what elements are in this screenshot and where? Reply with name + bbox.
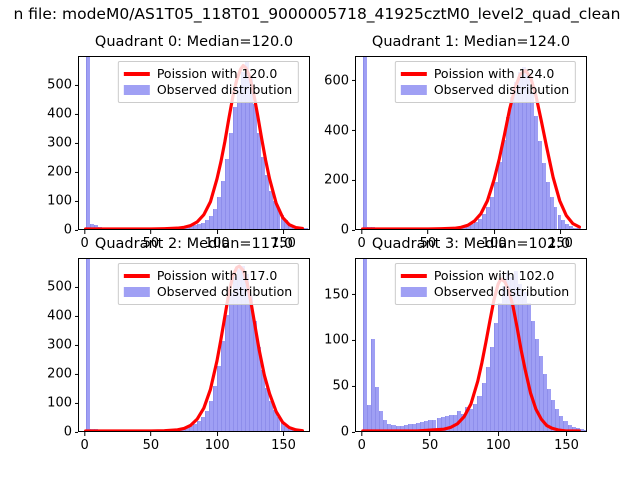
y-tick-label: 100 — [47, 194, 78, 209]
legend-entry-observed: Observed distribution — [124, 284, 292, 300]
y-tick-label: 300 — [47, 136, 78, 151]
figure-suptitle: n file: modeM0/AS1T05_118T01_9000005718_… — [0, 4, 640, 24]
legend-line-swatch — [124, 274, 150, 278]
legend-patch-swatch — [124, 85, 150, 95]
y-tick-label: 500 — [47, 280, 78, 295]
y-tick-label: 200 — [47, 165, 78, 180]
subplot-quadrant-1: Quadrant 1: Median=124.0 020040060005010… — [355, 56, 587, 230]
legend-label-observed: Observed distribution — [434, 82, 569, 98]
legend-patch-swatch — [124, 287, 150, 297]
legend-entry-observed: Observed distribution — [401, 82, 569, 98]
subplot-title-quadrant-3: Quadrant 3: Median=102.0 — [355, 236, 587, 252]
figure-suptitle-text: n file: modeM0/AS1T05_118T01_9000005718_… — [14, 4, 621, 24]
legend-entry-observed: Observed distribution — [124, 82, 292, 98]
y-tick-label: 500 — [47, 78, 78, 93]
legend-line-swatch — [401, 274, 427, 278]
subplot-quadrant-3: Quadrant 3: Median=102.0 050100150050100… — [355, 258, 587, 432]
x-tick-label: 0 — [358, 432, 366, 453]
x-tick-label: 50 — [422, 432, 439, 453]
subplot-quadrant-0: Quadrant 0: Median=120.0 010020030040050… — [78, 56, 310, 230]
y-tick-label: 200 — [324, 173, 355, 188]
legend-patch-swatch — [401, 85, 427, 95]
legend-label-poisson: Poission with 120.0 — [157, 66, 278, 82]
x-tick-label: 150 — [554, 432, 579, 453]
y-tick-label: 0 — [341, 223, 355, 238]
y-tick-label: 0 — [341, 425, 355, 440]
y-tick-label: 100 — [324, 333, 355, 348]
legend[interactable]: Poission with 120.0Observed distribution — [118, 61, 299, 103]
legend-line-swatch — [401, 72, 427, 76]
legend-label-poisson: Poission with 124.0 — [434, 66, 555, 82]
y-tick-label: 200 — [47, 367, 78, 382]
legend-label-poisson: Poission with 102.0 — [434, 268, 555, 284]
x-tick-label: 50 — [143, 432, 160, 453]
legend-entry-poisson: Poission with 117.0 — [124, 268, 292, 284]
matplotlib-figure: n file: modeM0/AS1T05_118T01_9000005718_… — [0, 0, 640, 480]
subplot-title-quadrant-1: Quadrant 1: Median=124.0 — [355, 34, 587, 50]
legend-label-observed: Observed distribution — [157, 82, 292, 98]
y-tick-label: 150 — [324, 287, 355, 302]
x-tick-label: 150 — [271, 432, 296, 453]
legend-entry-observed: Observed distribution — [401, 284, 569, 300]
y-tick-label: 300 — [47, 338, 78, 353]
y-tick-label: 0 — [64, 223, 78, 238]
y-tick-label: 400 — [47, 309, 78, 324]
legend-patch-swatch — [401, 287, 427, 297]
legend-entry-poisson: Poission with 102.0 — [401, 268, 569, 284]
legend-entry-poisson: Poission with 124.0 — [401, 66, 569, 82]
legend-label-observed: Observed distribution — [157, 284, 292, 300]
x-tick-label: 0 — [80, 432, 88, 453]
subplot-quadrant-2: Quadrant 2: Median=117.0 010020030040050… — [78, 258, 310, 432]
subplot-title-quadrant-0: Quadrant 0: Median=120.0 — [78, 34, 310, 50]
legend-label-poisson: Poission with 117.0 — [157, 268, 278, 284]
legend[interactable]: Poission with 102.0Observed distribution — [395, 263, 576, 305]
subplot-title-quadrant-2: Quadrant 2: Median=117.0 — [78, 236, 310, 252]
legend[interactable]: Poission with 117.0Observed distribution — [118, 263, 299, 305]
x-tick-label: 100 — [205, 432, 230, 453]
legend-line-swatch — [124, 72, 150, 76]
y-tick-label: 600 — [324, 73, 355, 88]
y-tick-label: 400 — [47, 107, 78, 122]
y-tick-label: 50 — [332, 379, 355, 394]
y-tick-label: 0 — [64, 425, 78, 440]
y-tick-label: 400 — [324, 123, 355, 138]
legend-entry-poisson: Poission with 120.0 — [124, 66, 292, 82]
y-tick-label: 100 — [47, 396, 78, 411]
legend[interactable]: Poission with 124.0Observed distribution — [395, 61, 576, 103]
legend-label-observed: Observed distribution — [434, 284, 569, 300]
x-tick-label: 100 — [486, 432, 511, 453]
